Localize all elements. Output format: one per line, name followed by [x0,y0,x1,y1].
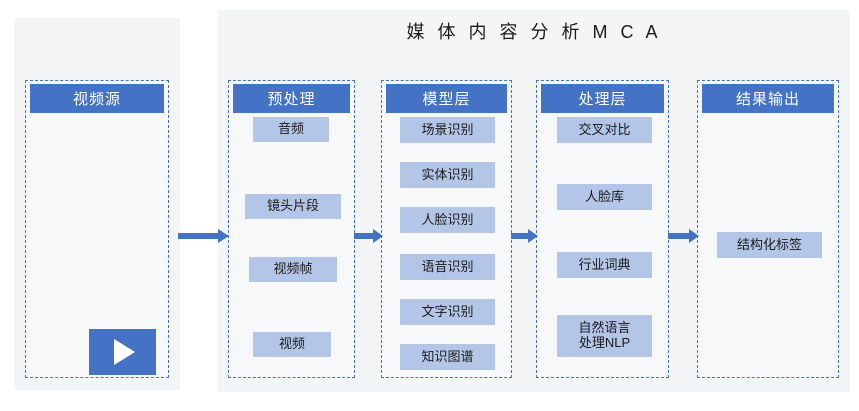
list-item[interactable]: 文字识别 [400,299,495,325]
stage-output: 结果输出 结构化标签 [697,80,839,378]
list-item[interactable]: 音频 [253,117,329,142]
list-item[interactable]: 交叉对比 [557,117,652,143]
stage-preprocess: 预处理 音频 镜头片段 视频帧 视频 [228,80,355,378]
list-item[interactable]: 自然语言 处理NLP [557,315,652,357]
stage-header-output: 结果输出 [702,84,834,113]
stage-header-source: 视频源 [30,84,164,113]
stage-items-output: 结构化标签 [698,117,838,371]
stage-header-model: 模型层 [386,84,507,113]
stage-source: 视频源 [25,80,169,378]
stage-items-processing: 交叉对比 人脸库 行业词典 自然语言 处理NLP [537,117,668,371]
stage-items-model: 场景识别 实体识别 人脸识别 语音识别 文字识别 知识图谱 [382,117,511,371]
list-item[interactable]: 结构化标签 [717,232,822,258]
stage-header-processing: 处理层 [541,84,664,113]
arrow-processing-to-output [668,228,700,244]
list-item[interactable]: 人脸识别 [400,207,495,233]
list-item[interactable]: 实体识别 [400,162,495,188]
stage-items-source [26,117,168,371]
list-item[interactable]: 知识图谱 [400,344,495,370]
play-triangle-icon [114,339,135,365]
stage-processing: 处理层 交叉对比 人脸库 行业词典 自然语言 处理NLP [536,80,669,378]
stage-header-preprocess: 预处理 [233,84,350,113]
diagram-canvas: 媒 体 内 容 分 析 M C A 视频源 预处理 音频 镜头片段 视频帧 视频… [0,0,859,411]
list-item[interactable]: 行业词典 [557,252,652,278]
arrow-model-to-processing [511,228,539,244]
list-item[interactable]: 镜头片段 [245,194,341,219]
stage-model: 模型层 场景识别 实体识别 人脸识别 语音识别 文字识别 知识图谱 [381,80,512,378]
list-item[interactable]: 场景识别 [400,117,495,143]
list-item[interactable]: 语音识别 [400,254,495,280]
list-item[interactable]: 视频 [253,332,331,357]
arrow-preprocess-to-model [354,228,384,244]
diagram-title: 媒 体 内 容 分 析 M C A [218,18,850,44]
list-item[interactable]: 视频帧 [249,257,337,282]
video-play-icon[interactable] [89,329,156,375]
list-item[interactable]: 人脸库 [557,184,652,210]
stage-items-preprocess: 音频 镜头片段 视频帧 视频 [229,117,354,371]
arrow-source-to-preprocess [178,228,230,244]
